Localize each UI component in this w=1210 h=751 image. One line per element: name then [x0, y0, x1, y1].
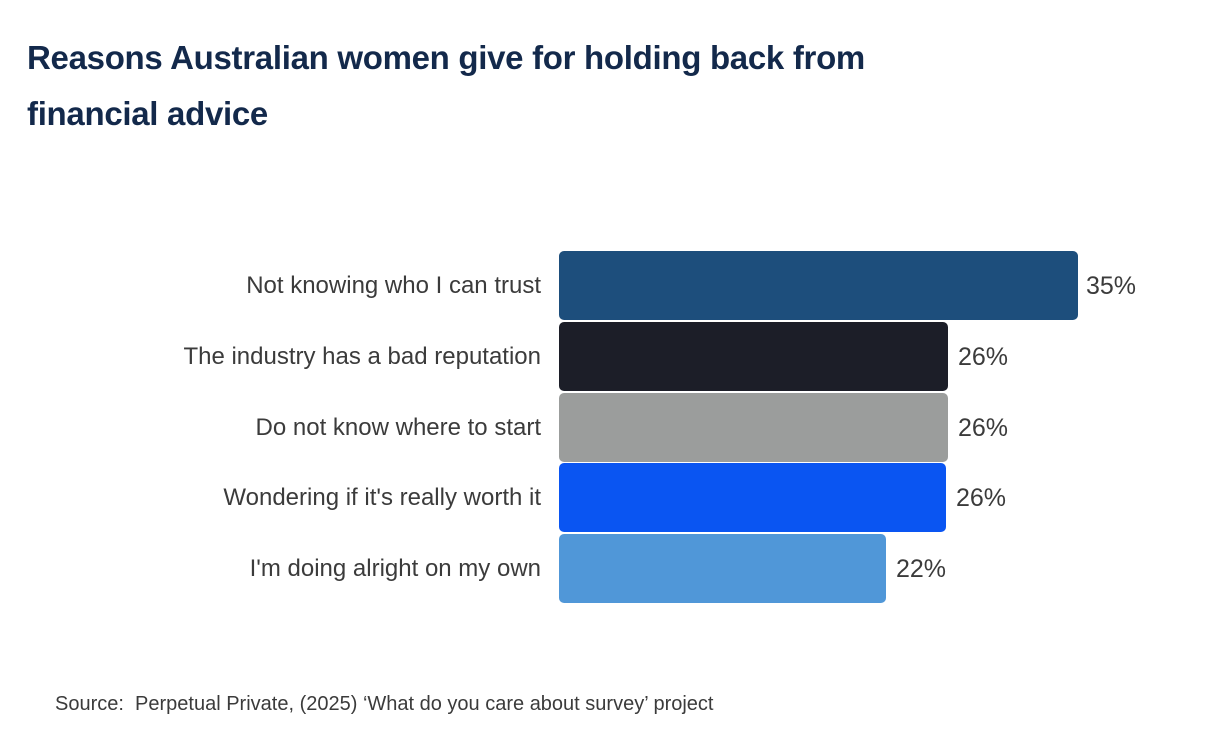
- bar-value-label: 35%: [1086, 271, 1136, 301]
- bar-track: [559, 463, 946, 532]
- bar-row: Not knowing who I can trust 35%: [0, 251, 1210, 320]
- bar-row: The industry has a bad reputation 26%: [0, 322, 1210, 391]
- bar-row: Wondering if it's really worth it 26%: [0, 463, 1210, 532]
- bar-segment[interactable]: [559, 251, 1078, 320]
- bar-segment[interactable]: [559, 393, 948, 462]
- bar-segment[interactable]: [559, 322, 948, 391]
- bar-track: [559, 534, 886, 603]
- bar-value-label: 26%: [958, 413, 1008, 443]
- bar-row: Do not know where to start 26%: [0, 393, 1210, 462]
- bar-value-label: 22%: [896, 554, 946, 584]
- bar-category-label: I'm doing alright on my own: [250, 554, 541, 584]
- bar-category-label: The industry has a bad reputation: [183, 342, 541, 372]
- source-note: Source: Perpetual Private, (2025) ‘What …: [55, 690, 714, 718]
- bar-category-label: Wondering if it's really worth it: [223, 483, 541, 513]
- bar-category-label: Do not know where to start: [256, 413, 541, 443]
- bar-track: [559, 322, 948, 391]
- bar-chart-plot-area: Not knowing who I can trust 35% The indu…: [0, 245, 1210, 615]
- bar-row: I'm doing alright on my own 22%: [0, 534, 1210, 603]
- bar-segment[interactable]: [559, 463, 946, 532]
- bar-value-label: 26%: [958, 342, 1008, 372]
- bar-category-label: Not knowing who I can trust: [246, 271, 541, 301]
- bar-segment[interactable]: [559, 534, 886, 603]
- bar-value-label: 26%: [956, 483, 1006, 513]
- page-title: Reasons Australian women give for holdin…: [27, 30, 1187, 142]
- bar-track: [559, 251, 1078, 320]
- bar-track: [559, 393, 948, 462]
